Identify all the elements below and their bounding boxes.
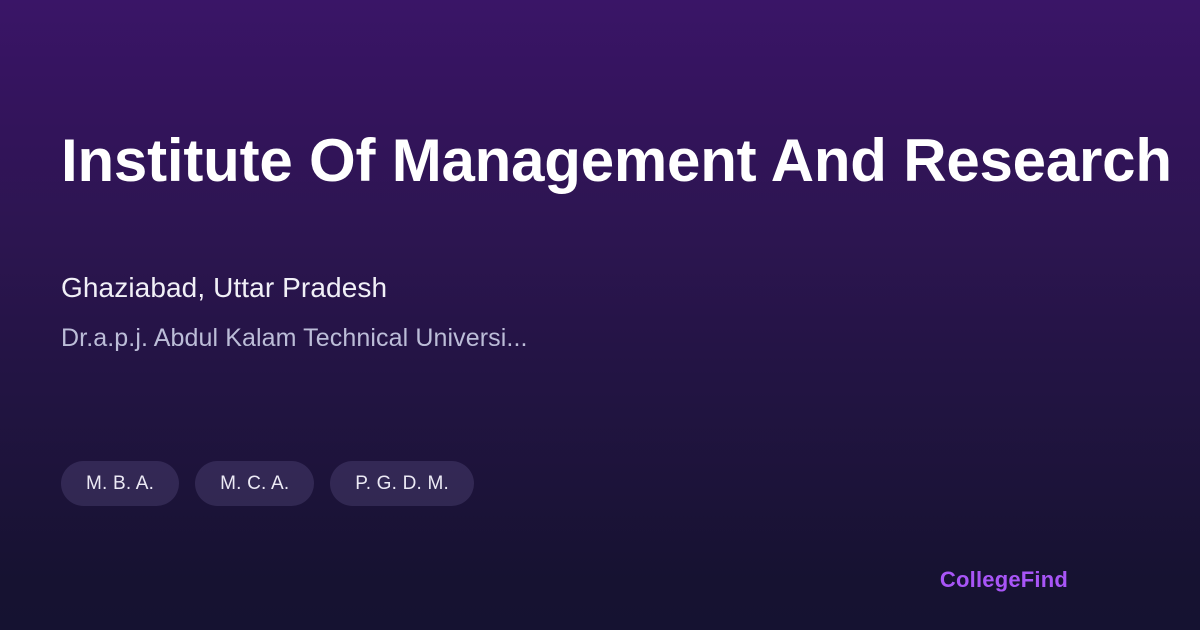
- page-title: Institute Of Management And Research: [61, 126, 1121, 196]
- og-share-card: Institute Of Management And Research Gha…: [0, 0, 1200, 630]
- program-tag: P. G. D. M.: [330, 461, 474, 506]
- brand-logo-text: CollegeFind: [940, 567, 1068, 593]
- college-meta: Ghaziabad, Uttar Pradesh Dr.a.p.j. Abdul…: [61, 270, 528, 354]
- program-tag-list: M. B. A. M. C. A. P. G. D. M.: [61, 461, 474, 506]
- college-affiliation: Dr.a.p.j. Abdul Kalam Technical Universi…: [61, 322, 528, 354]
- card-content: Institute Of Management And Research Gha…: [0, 0, 1200, 630]
- college-location: Ghaziabad, Uttar Pradesh: [61, 270, 528, 306]
- program-tag: M. B. A.: [61, 461, 179, 506]
- program-tag: M. C. A.: [195, 461, 314, 506]
